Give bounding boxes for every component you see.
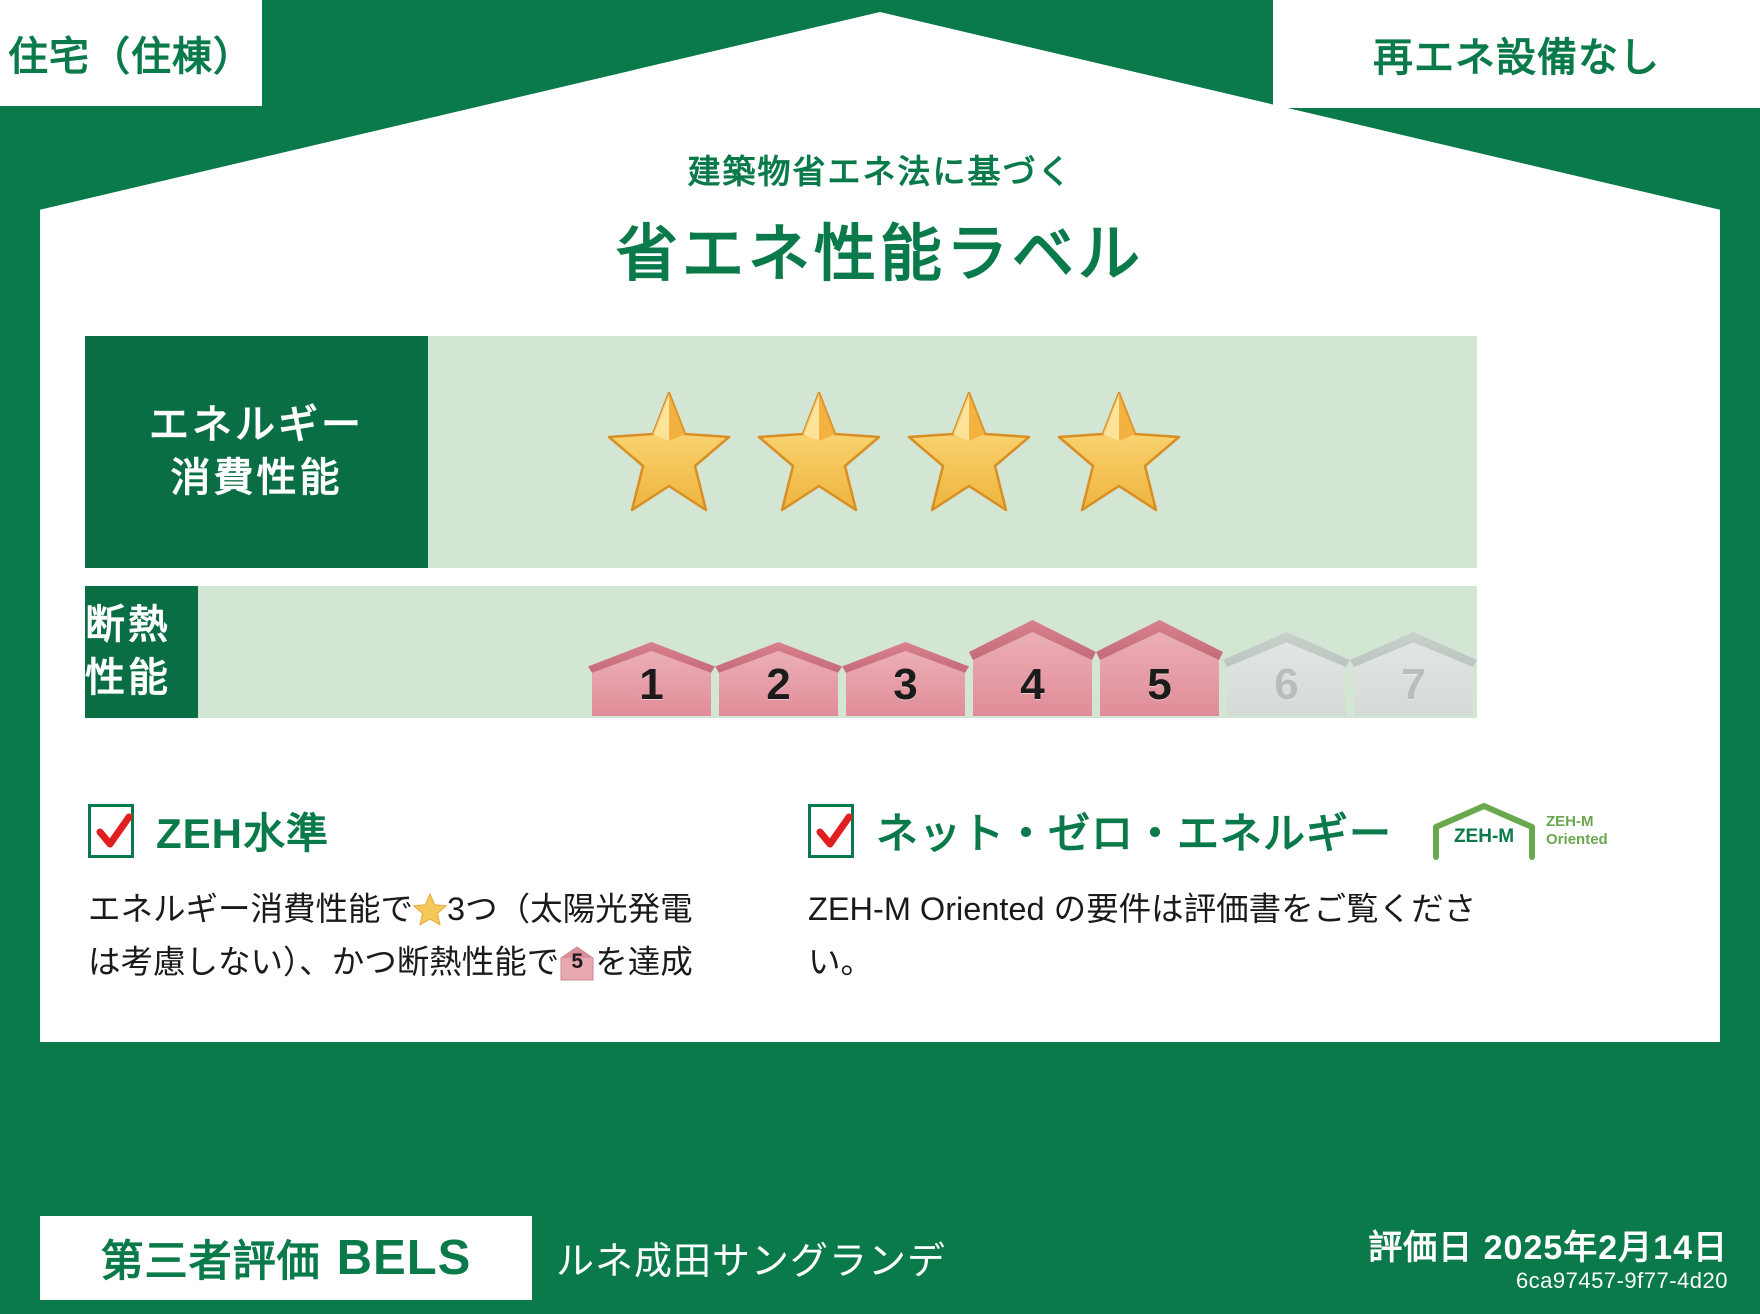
insulation-grade-house-6: 6 <box>1223 630 1350 718</box>
criteria-zeh-text-3: は考慮しない）、かつ断熱性能で <box>88 944 559 980</box>
star-rating-container <box>428 336 1477 568</box>
insulation-grade-container: 1234567 <box>198 586 1477 718</box>
insulation-grade-number: 2 <box>715 660 842 710</box>
energy-performance-label: 住宅（住棟） 再エネ設備なし 建築物省エネ法に基づく 省エネ性能ラベル エネルギ… <box>0 0 1760 1314</box>
criteria-zeh-text-2: 3つ（太陽光発電 <box>447 891 693 927</box>
footer: 第三者評価 BELS ルネ成田サングランデ 評価日 2025年2月14日 6ca… <box>0 1204 1760 1314</box>
insulation-grade-list: 1234567 <box>588 586 1477 718</box>
checkbox-net-zero-energy[interactable] <box>808 804 854 858</box>
check-icon <box>95 812 133 854</box>
row-energy-label-line2: 消費性能 <box>171 452 343 505</box>
evaluation-date: 評価日 2025年2月14日 <box>1368 1220 1728 1269</box>
badge-building-type-label: 住宅（住棟） <box>8 24 254 82</box>
inline-star-icon <box>413 889 447 922</box>
inline-house-number: 5 <box>559 945 595 979</box>
title-block: 建築物省エネ法に基づく 省エネ性能ラベル <box>0 145 1760 293</box>
row-insulation-performance: 断熱性能 1234567 <box>85 586 1477 718</box>
insulation-grade-number: 3 <box>842 660 969 710</box>
criteria-nze-description: ZEH-M Oriented の要件は評価書をご覧ください。 <box>808 883 1508 988</box>
star-icon <box>903 389 1035 515</box>
criteria-nze-title: ネット・ゼロ・エネルギー <box>876 800 1392 861</box>
insulation-grade-house-7: 7 <box>1350 630 1477 718</box>
insulation-grade-house-3: 3 <box>842 640 969 718</box>
insulation-grade-house-2: 2 <box>715 640 842 718</box>
criteria-zeh-text-1: エネルギー消費性能で <box>88 891 413 927</box>
insulation-grade-house-1: 1 <box>588 640 715 718</box>
bels-en-label: BELS <box>337 1230 472 1286</box>
building-name: ルネ成田サングランデ <box>556 1230 946 1285</box>
zeh-m-logo-side: ZEH-M Oriented <box>1546 813 1608 848</box>
page-title: 省エネ性能ラベル <box>0 203 1760 293</box>
row-insulation-label-text: 断熱性能 <box>85 599 198 705</box>
star-icon <box>753 389 885 515</box>
zeh-m-house-icon: ZEH-M <box>1428 801 1540 861</box>
criteria-zeh-title: ZEH水準 <box>156 800 329 861</box>
insulation-grade-number: 6 <box>1223 660 1350 710</box>
criteria-zeh-header: ZEH水準 <box>88 800 778 861</box>
checkbox-zeh-standard[interactable] <box>88 804 134 858</box>
zeh-m-side-line2: Oriented <box>1546 831 1608 848</box>
row-insulation-label: 断熱性能 <box>85 586 198 718</box>
criteria-zeh-description: エネルギー消費性能で3つ（太陽光発電 は考慮しない）、かつ断熱性能で5を達成 <box>88 883 778 988</box>
inline-house-icon: 5 <box>559 944 595 980</box>
zeh-m-logo-text: ZEH-M <box>1428 826 1540 848</box>
insulation-grade-number: 4 <box>969 660 1096 710</box>
insulation-grade-house-5: 5 <box>1096 618 1223 718</box>
evaluation-id: 6ca97457-9f77-4d20 <box>1516 1268 1728 1294</box>
page-subtitle: 建築物省エネ法に基づく <box>0 145 1760 193</box>
badge-renewable-energy: 再エネ設備なし <box>1273 0 1760 108</box>
zeh-m-logo: ZEH-M ZEH-M Oriented <box>1428 801 1608 861</box>
insulation-grade-house-4: 4 <box>969 618 1096 718</box>
criteria-zeh-text-4: を達成 <box>595 944 693 980</box>
insulation-grade-number: 7 <box>1350 660 1477 710</box>
insulation-grade-number: 1 <box>588 660 715 710</box>
insulation-grade-number: 5 <box>1096 660 1223 710</box>
criteria-zeh-standard: ZEH水準 エネルギー消費性能で3つ（太陽光発電 は考慮しない）、かつ断熱性能で… <box>88 800 778 988</box>
bels-badge: 第三者評価 BELS <box>40 1216 532 1300</box>
badge-renewable-energy-label: 再エネ設備なし <box>1373 25 1660 83</box>
star-icon <box>1053 389 1185 515</box>
row-energy-label: エネルギー 消費性能 <box>85 336 428 568</box>
badge-building-type: 住宅（住棟） <box>0 0 262 106</box>
zeh-m-side-line1: ZEH-M <box>1546 813 1608 830</box>
bels-jp-label: 第三者評価 <box>101 1227 321 1289</box>
criteria-net-zero-energy: ネット・ゼロ・エネルギー ZEH-M ZEH-M Oriented ZEH-M … <box>808 800 1508 988</box>
check-icon <box>815 812 853 854</box>
criteria-nze-header: ネット・ゼロ・エネルギー ZEH-M ZEH-M Oriented <box>808 800 1508 861</box>
row-energy-label-line1: エネルギー <box>149 399 364 452</box>
star-icon <box>603 389 735 515</box>
row-energy-performance: エネルギー 消費性能 <box>85 336 1477 568</box>
